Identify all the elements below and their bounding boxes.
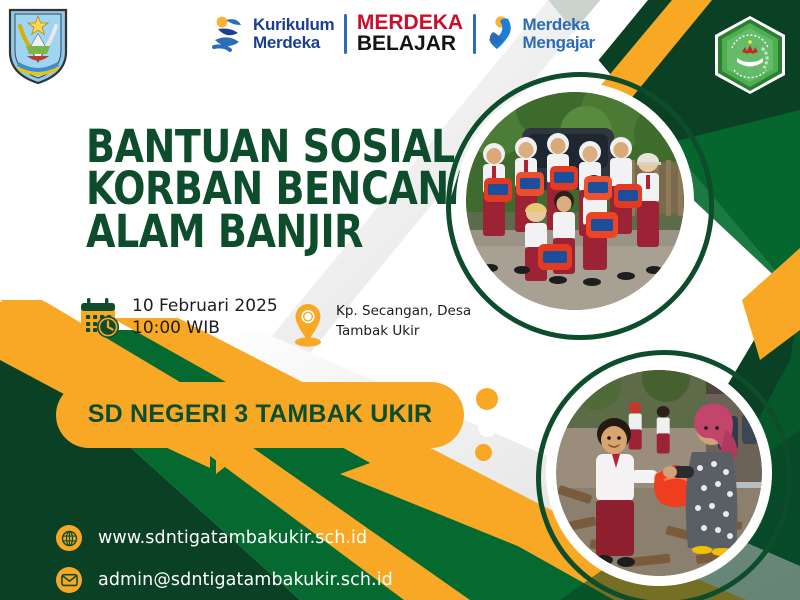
event-details-row: 10 Februari 2025 10:00 WIB Kp. Secangan,… [78, 296, 498, 358]
decor-dot-white-right [478, 418, 497, 437]
merdeka-mengajar-line1: Merdeka [523, 16, 595, 34]
kurikulum-merdeka-icon [212, 14, 246, 54]
event-location-line2: Tambak Ukir [336, 322, 471, 342]
poster-headline: BANTUAN SOSIAL KORBAN BENCANA ALAM BANJI… [86, 126, 462, 253]
merdeka-mengajar-icon [486, 14, 516, 54]
program-logo-bar: Kurikulum Merdeka MERDEKA BELAJAR Merdek… [212, 8, 602, 60]
calendar-clock-icon [78, 296, 122, 340]
event-location-text: Kp. Secangan, Desa Tambak Ukir [336, 302, 471, 341]
merdeka-belajar-logo: MERDEKA BELAJAR [357, 13, 463, 54]
merdeka-mengajar-line2: Mengajar [523, 34, 595, 52]
decor-dot-yellow-top-right [476, 388, 498, 410]
event-location-line1: Kp. Secangan, Desa [336, 302, 471, 322]
merdeka-belajar-line1: MERDEKA [357, 13, 463, 34]
kurikulum-merdeka-logo: Kurikulum Merdeka [212, 14, 334, 54]
map-pin-icon [290, 302, 326, 348]
logo-divider-2 [473, 14, 476, 54]
logo-divider-1 [344, 14, 347, 54]
globe-icon [56, 525, 82, 551]
poster-canvas: Kurikulum Merdeka MERDEKA BELAJAR Merdek… [0, 0, 800, 600]
organizer-name-banner: SD NEGERI 3 TAMBAK UKIR [56, 382, 464, 448]
organizer-name-label: SD NEGERI 3 TAMBAK UKIR [56, 382, 464, 448]
contact-website-label: www.sdntigatambakukir.sch.id [98, 528, 367, 548]
east-java-provincial-emblem-icon [6, 4, 70, 86]
merdeka-belajar-line2: BELAJAR [357, 34, 463, 55]
headline-line-3: ALAM BANJIR [86, 211, 462, 253]
contact-list: www.sdntigatambakukir.sch.id admin@sdnti… [56, 521, 393, 600]
event-datetime-text: 10 Februari 2025 10:00 WIB [132, 296, 278, 340]
merdeka-mengajar-logo: Merdeka Mengajar [486, 14, 595, 54]
event-datetime: 10 Februari 2025 10:00 WIB [78, 296, 278, 340]
event-date: 10 Februari 2025 [132, 296, 278, 318]
school-hexagon-emblem-icon [710, 14, 790, 96]
contact-email[interactable]: admin@sdntigatambakukir.sch.id [56, 563, 393, 597]
contact-email-label: admin@sdntigatambakukir.sch.id [98, 570, 393, 590]
photo-handover-image [556, 370, 762, 576]
kurikulum-merdeka-line2: Merdeka [253, 34, 334, 52]
contact-website[interactable]: www.sdntigatambakukir.sch.id [56, 521, 393, 555]
photo-students-group-image [466, 92, 684, 310]
envelope-icon [56, 567, 82, 593]
decor-dot-yellow-bottom-right [475, 444, 492, 461]
event-time: 10:00 WIB [132, 318, 278, 340]
kurikulum-merdeka-line1: Kurikulum [253, 16, 334, 34]
event-location: Kp. Secangan, Desa Tambak Ukir [290, 302, 471, 348]
